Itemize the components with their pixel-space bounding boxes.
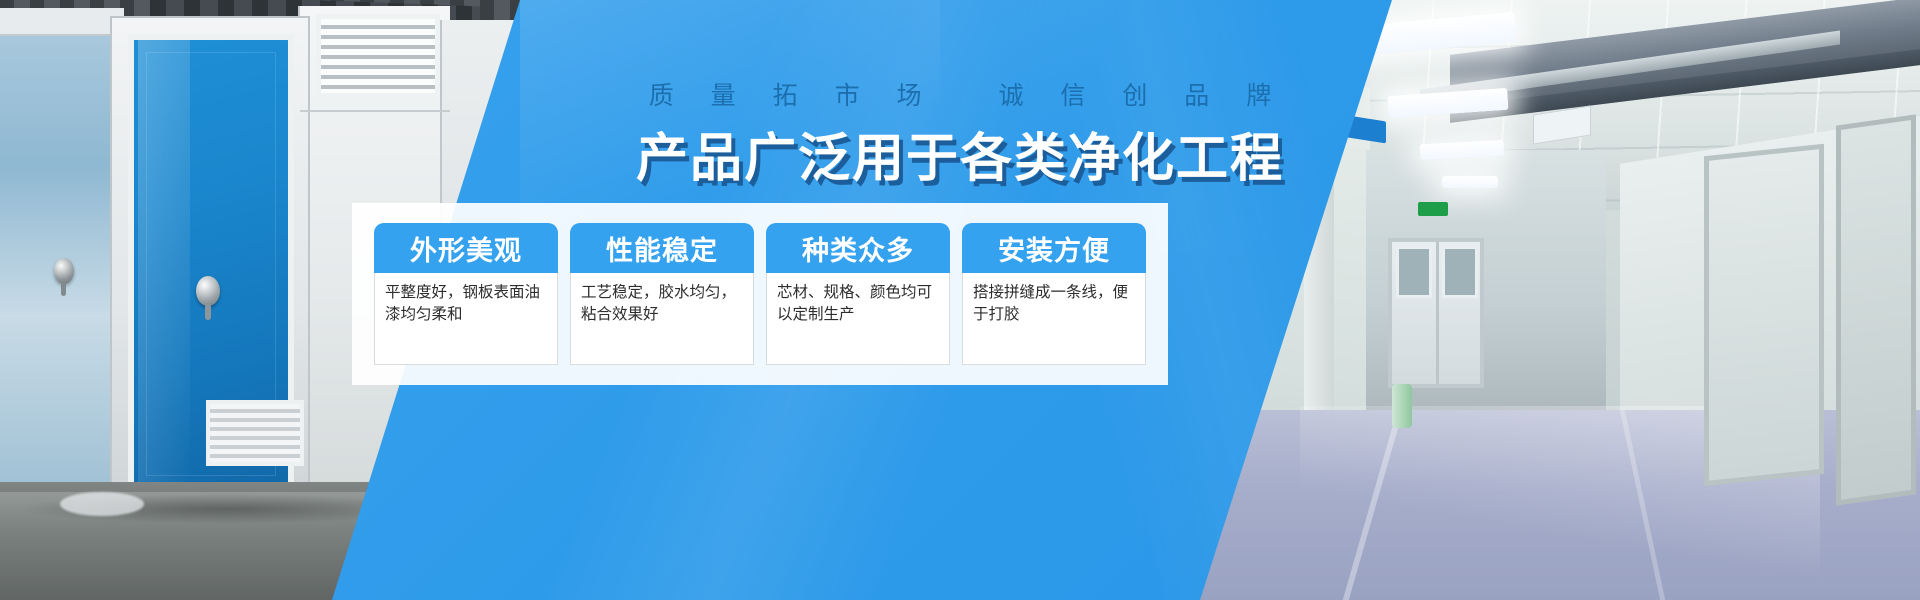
louver-vent-bottom (206, 400, 304, 466)
cabin-unit-glass-top (0, 8, 124, 36)
door-window-left (1396, 246, 1432, 298)
exit-sign-green (1418, 202, 1448, 216)
feature-card-list: 外形美观平整度好，钢板表面油漆均匀柔和性能稳定工艺稳定，胶水均匀，粘合效果好种类… (352, 203, 1168, 385)
feature-card-body: 搭接拼缝成一条线，便于打胶 (962, 273, 1146, 365)
banner-headline: 产品广泛用于各类净化工程 (0, 116, 1920, 191)
feature-card-body: 工艺稳定，胶水均匀，粘合效果好 (570, 273, 754, 365)
feature-card-title: 安装方便 (962, 223, 1146, 273)
feature-card[interactable]: 性能稳定工艺稳定，胶水均匀，粘合效果好 (570, 223, 754, 365)
corridor-near-door (1704, 144, 1824, 487)
feature-card[interactable]: 种类众多芯材、规格、颜色均可以定制生产 (766, 223, 950, 365)
door-window-right (1442, 246, 1478, 298)
banner-tagline: 质 量 拓 市 场 诚 信 创 品 牌 (0, 76, 1920, 112)
feature-card-panel: 外形美观平整度好，钢板表面油漆均匀柔和性能稳定工艺稳定，胶水均匀，粘合效果好种类… (352, 203, 1168, 385)
door-handle-secondary (54, 258, 74, 284)
feature-card-title: 种类众多 (766, 223, 950, 273)
floor-highlight (60, 492, 144, 516)
feature-card[interactable]: 外形美观平整度好，钢板表面油漆均匀柔和 (374, 223, 558, 365)
feature-card[interactable]: 安装方便搭接拼缝成一条线，便于打胶 (962, 223, 1146, 365)
corridor-equipment (1392, 384, 1412, 428)
feature-card-body: 芯材、规格、颜色均可以定制生产 (766, 273, 950, 365)
feature-card-title: 外形美观 (374, 223, 558, 273)
banner-stage: 质 量 拓 市 场 诚 信 创 品 牌 产品广泛用于各类净化工程 外形美观平整度… (0, 0, 1920, 600)
feature-card-body: 平整度好，钢板表面油漆均匀柔和 (374, 273, 558, 365)
blue-panel-ghost-image (520, 0, 940, 230)
door-handle-main (196, 276, 220, 306)
feature-card-title: 性能稳定 (570, 223, 754, 273)
